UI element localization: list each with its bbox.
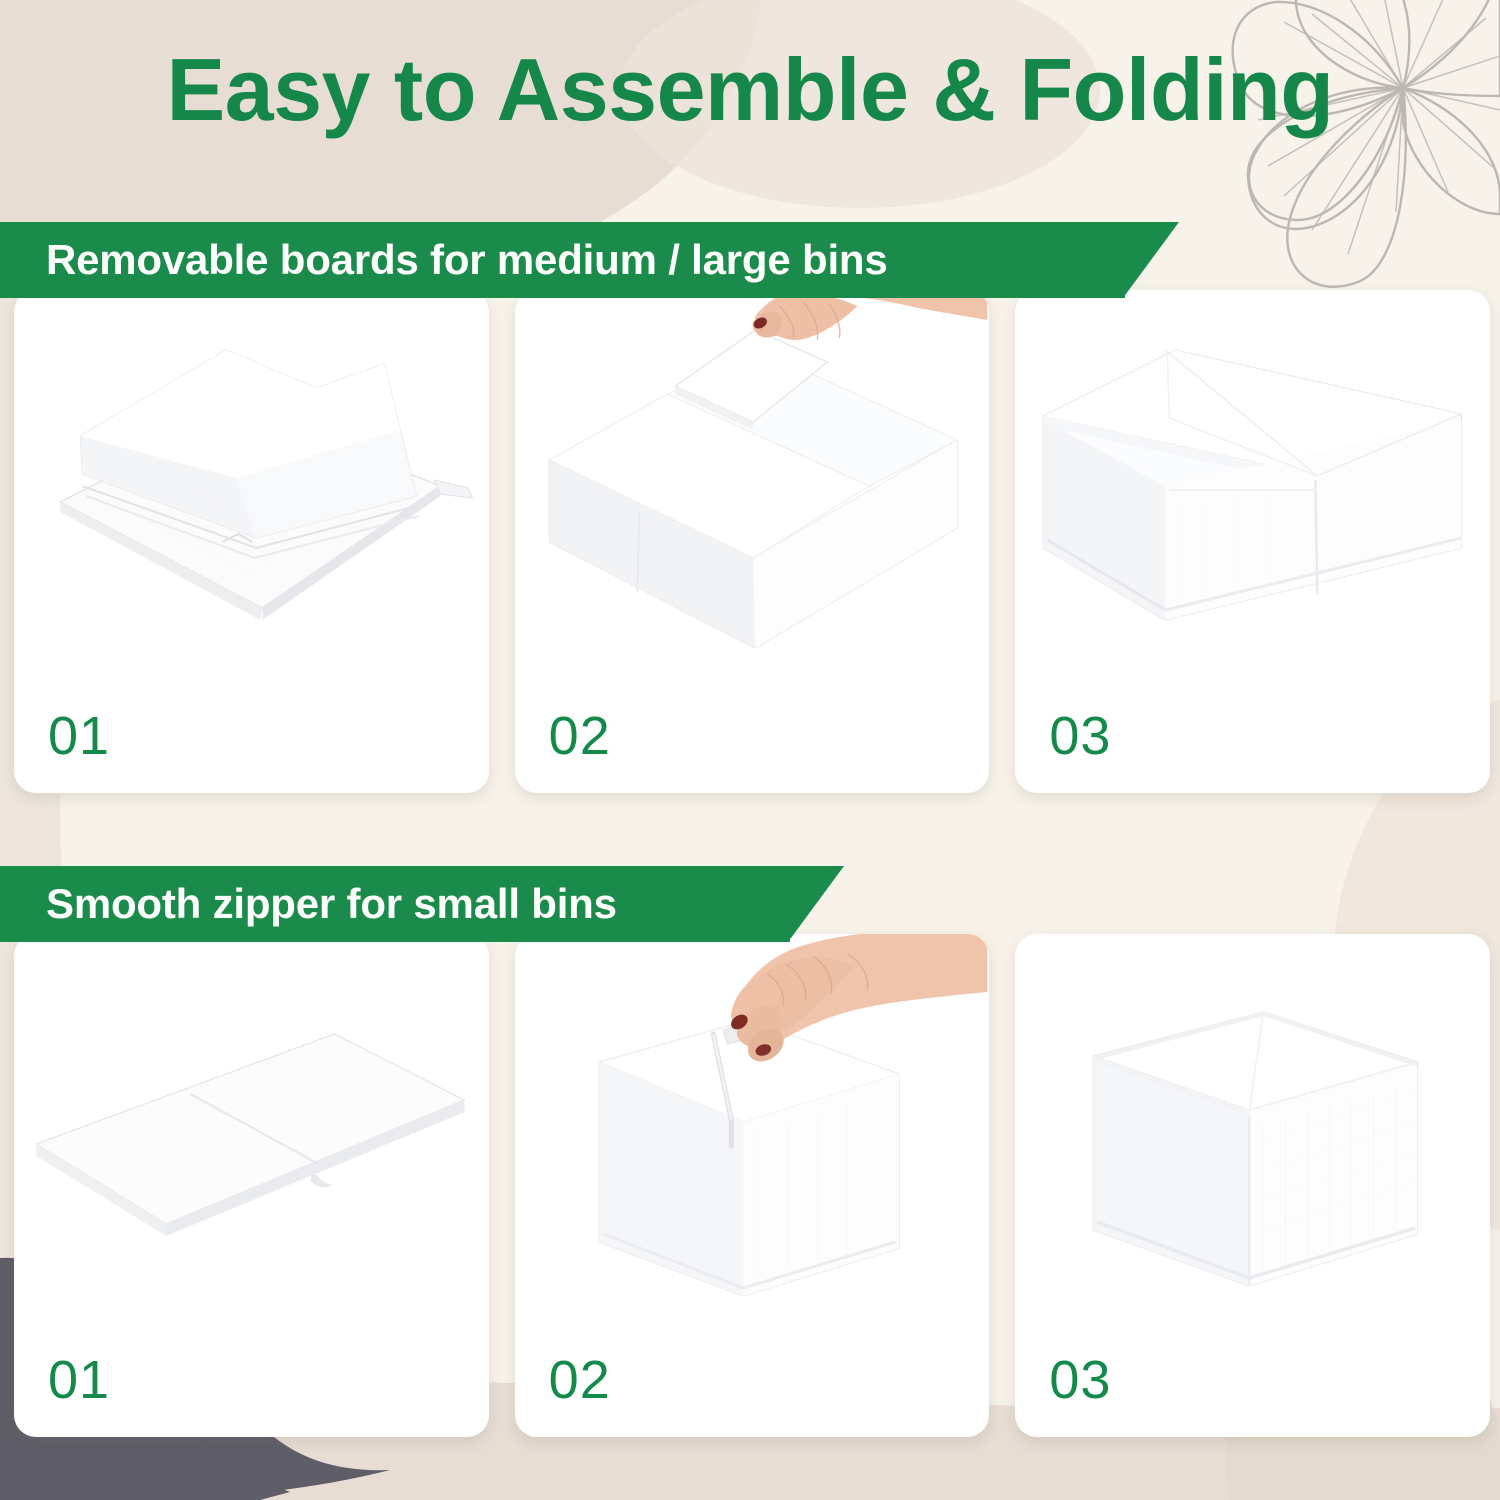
- section-banner-1: Removable boards for medium / large bins: [0, 222, 1125, 298]
- step-card-2-2[interactable]: 02: [515, 934, 990, 1437]
- assembled-small-cube-bin-photo: [1015, 934, 1490, 1334]
- assembled-large-bin-photo: [1015, 290, 1490, 690]
- section-banner-2: Smooth zipper for small bins: [0, 866, 790, 942]
- step-card-1-3[interactable]: 03: [1015, 290, 1490, 793]
- step-card-1-1[interactable]: 01: [14, 290, 489, 793]
- section-banner-1-label: Removable boards for medium / large bins: [0, 236, 888, 284]
- step-number-label: 02: [549, 1349, 611, 1411]
- flat-folded-small-bin-photo: [14, 934, 489, 1334]
- hand-inserting-board-photo: [515, 290, 990, 690]
- step-number-label: 01: [48, 705, 110, 767]
- page-title: Easy to Assemble & Folding: [0, 44, 1500, 136]
- step-number-label: 03: [1049, 705, 1111, 767]
- step-number-label: 01: [48, 1349, 110, 1411]
- step-card-row-1: 01: [14, 290, 1490, 793]
- step-number-label: 02: [549, 705, 611, 767]
- hand-pulling-zipper-photo: [515, 934, 990, 1334]
- step-card-2-1[interactable]: 01: [14, 934, 489, 1437]
- infographic-page: Easy to Assemble & Folding Removable boa…: [0, 0, 1500, 1500]
- step-card-row-2: 01: [14, 934, 1490, 1437]
- section-banner-2-label: Smooth zipper for small bins: [0, 880, 617, 928]
- step-number-label: 03: [1049, 1349, 1111, 1411]
- step-card-1-2[interactable]: 02: [515, 290, 990, 793]
- step-card-2-3[interactable]: 03: [1015, 934, 1490, 1437]
- hand-illustration: [728, 934, 987, 1061]
- folded-boards-stack-photo: [14, 290, 489, 690]
